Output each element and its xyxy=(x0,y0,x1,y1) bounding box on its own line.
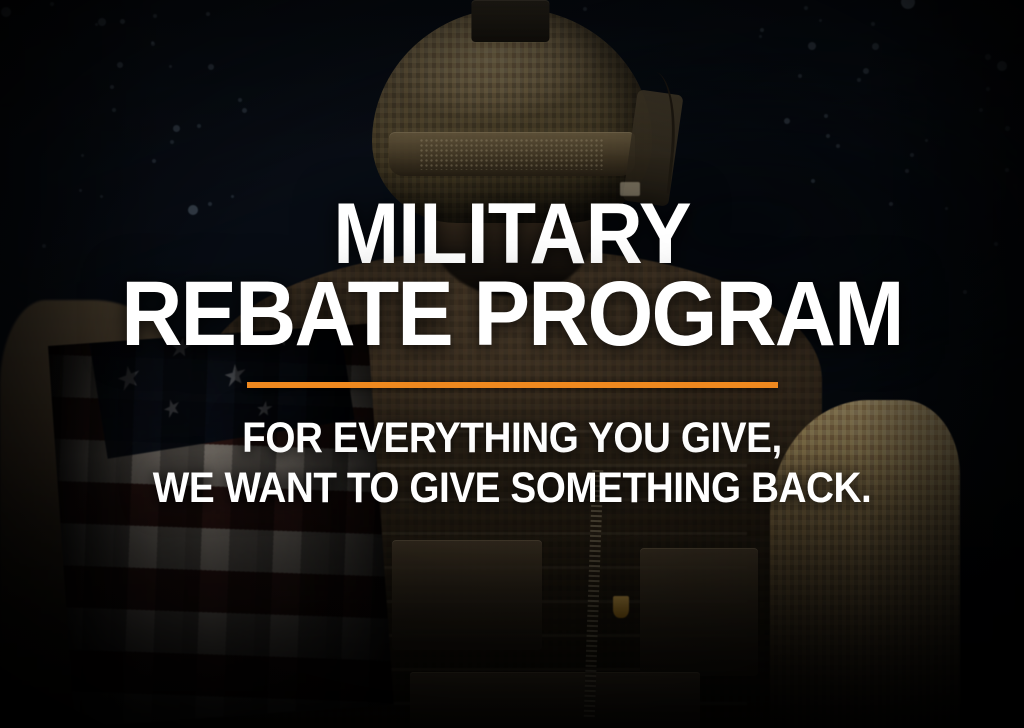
page-title: MILITARY REBATE PROGRAM xyxy=(41,0,983,356)
subtitle-line-1: FOR EVERYTHING YOU GIVE, xyxy=(51,414,973,464)
subtitle: FOR EVERYTHING YOU GIVE, WE WANT TO GIVE… xyxy=(51,414,973,514)
subtitle-line-2: WE WANT TO GIVE SOMETHING BACK. xyxy=(51,464,973,514)
orange-divider xyxy=(247,382,778,388)
headline-line-1: MILITARY xyxy=(41,196,983,273)
military-rebate-banner: ★★★★★★ MILITARY REBATE PROGRAM FOR EVERY… xyxy=(0,0,1024,728)
banner-content: MILITARY REBATE PROGRAM FOR EVERYTHING Y… xyxy=(0,0,1024,728)
headline-line-2: REBATE PROGRAM xyxy=(41,273,983,356)
